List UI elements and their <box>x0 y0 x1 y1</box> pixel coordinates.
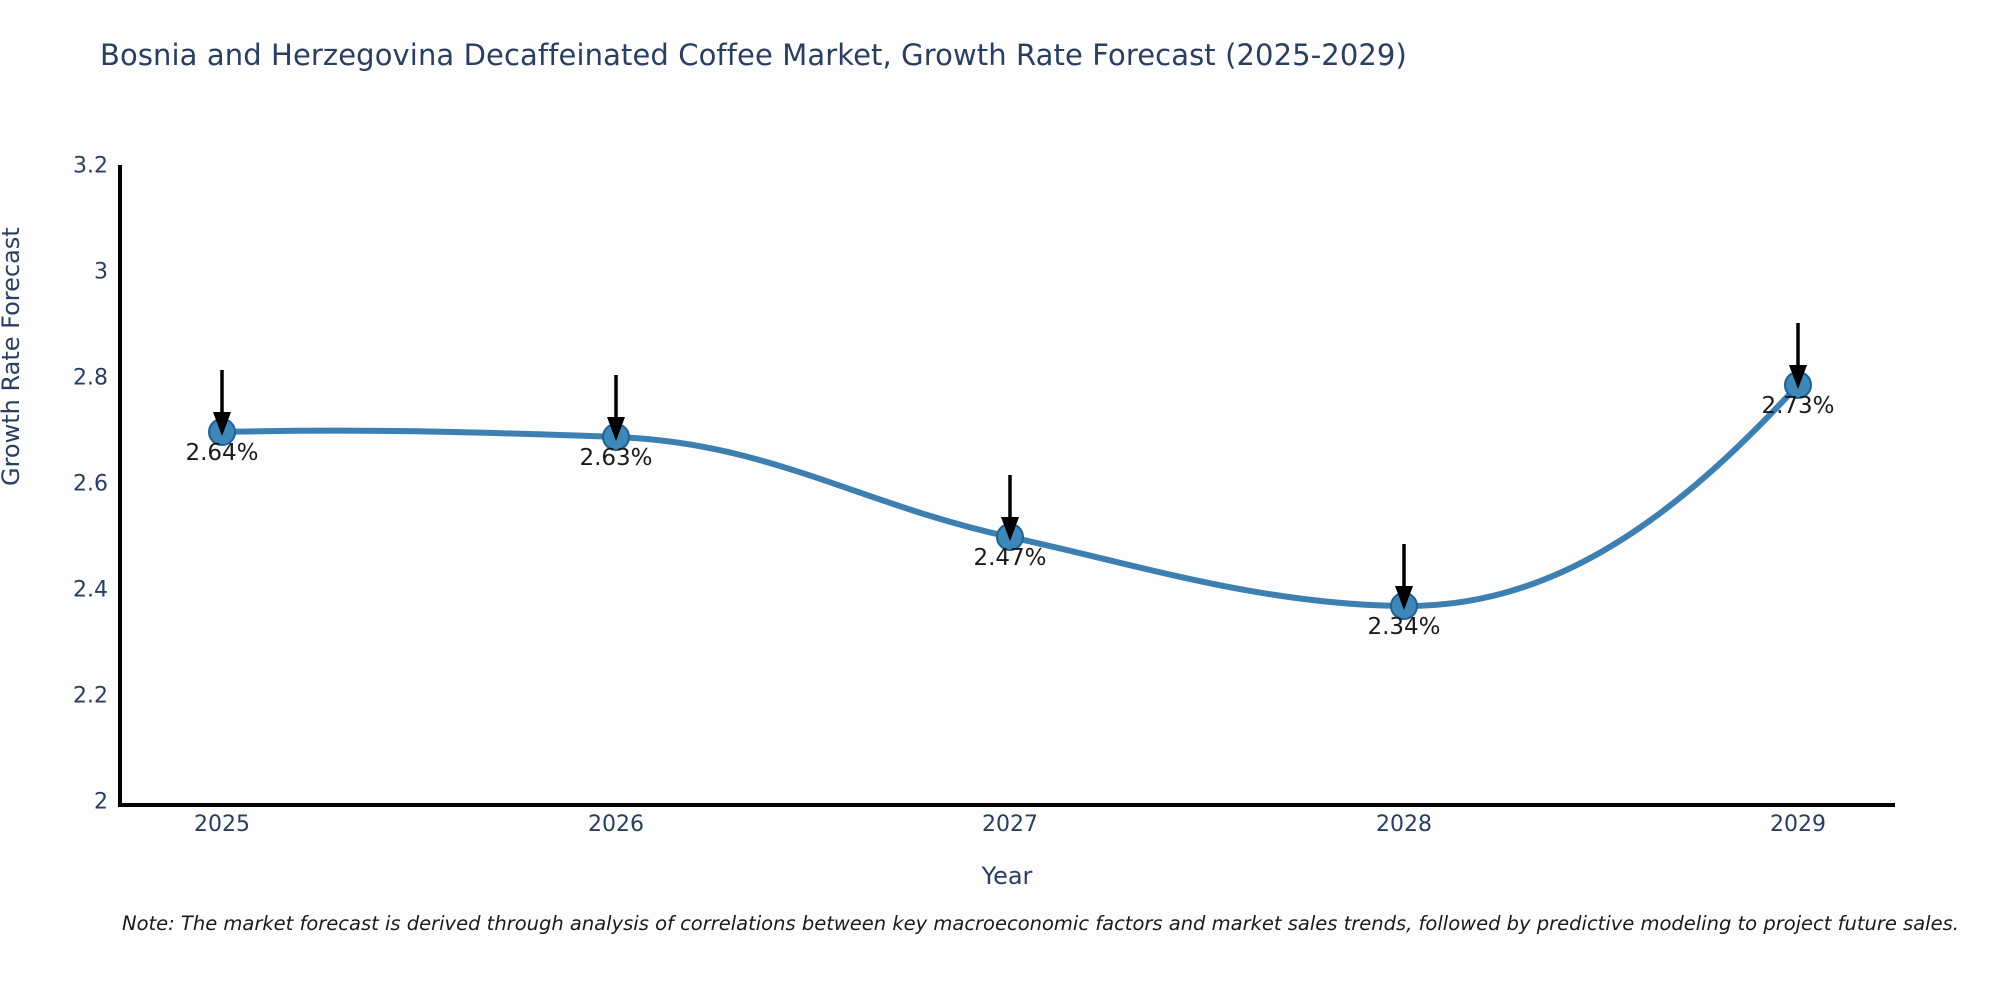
data-point-label: 2.73% <box>1761 393 1834 419</box>
data-point-label: 2.47% <box>973 545 1046 571</box>
chart-title: Bosnia and Herzegovina Decaffeinated Cof… <box>100 38 1407 72</box>
y-tick-label: 3.2 <box>73 154 108 179</box>
y-axis-tick-labels: 3.2 3 2.8 2.6 2.4 2.2 2 <box>0 0 108 1000</box>
plot-area: 2.64% 2.63% 2.47% 2.34% 2.73% <box>121 165 1895 805</box>
y-tick-label: 2 <box>94 790 108 815</box>
x-tick-label: 2027 <box>982 812 1038 837</box>
x-tick-label: 2029 <box>1770 812 1826 837</box>
series-line-growth-rate-forecast <box>121 165 1895 805</box>
x-tick-label: 2028 <box>1376 812 1432 837</box>
data-point-label: 2.63% <box>579 445 652 471</box>
data-point-label: 2.64% <box>185 440 258 466</box>
chart-footnote: Note: The market forecast is derived thr… <box>122 912 1959 935</box>
y-tick-label: 2.6 <box>73 472 108 497</box>
x-axis-title: Year <box>982 862 1033 890</box>
x-tick-label: 2026 <box>588 812 644 837</box>
y-tick-label: 3 <box>94 260 108 285</box>
data-point-label: 2.34% <box>1367 614 1440 640</box>
y-tick-label: 2.8 <box>73 366 108 391</box>
chart-canvas: Bosnia and Herzegovina Decaffeinated Cof… <box>0 0 2000 1000</box>
y-tick-label: 2.2 <box>73 684 108 709</box>
y-tick-label: 2.4 <box>73 578 108 603</box>
x-tick-label: 2025 <box>194 812 250 837</box>
